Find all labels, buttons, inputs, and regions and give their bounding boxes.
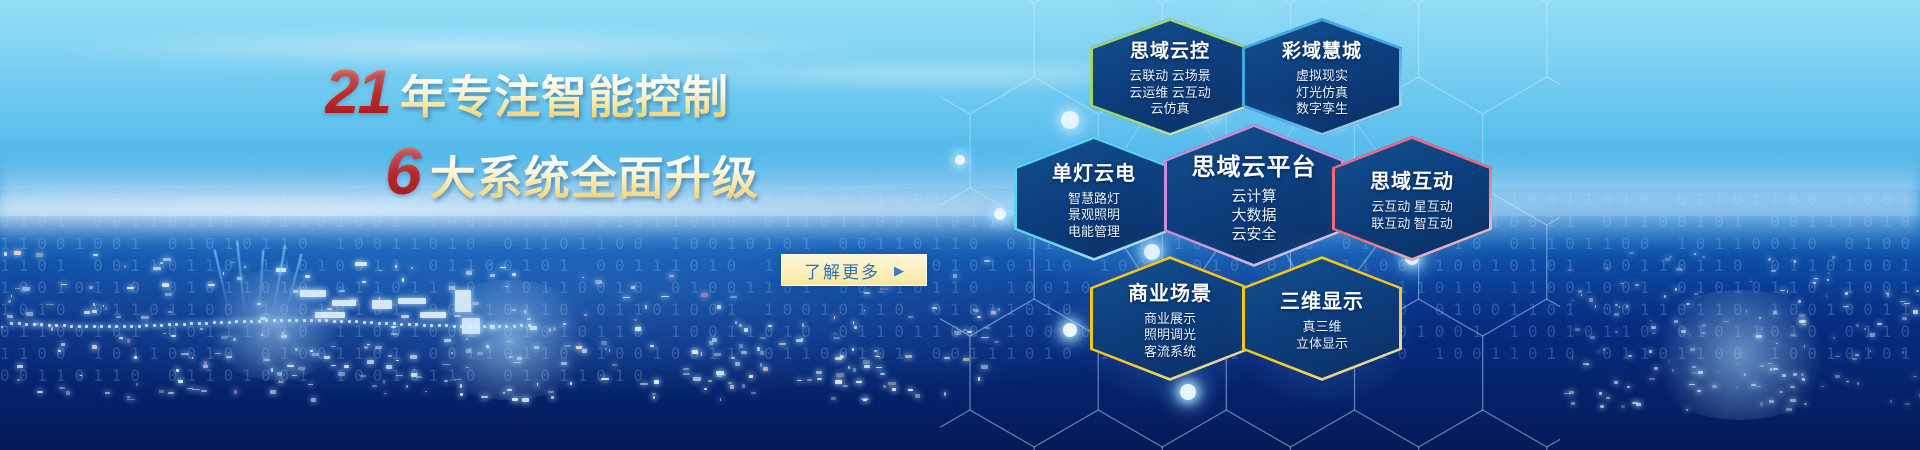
- headline-number-21: 21: [325, 62, 400, 124]
- hex-subtitle-list: 智慧路灯景观照明电能管理: [1068, 191, 1120, 241]
- hex-subtitle-list: 云互动 星互动联互动 智互动: [1371, 199, 1453, 232]
- hex-subtitle-line: 客流系统: [1144, 344, 1196, 361]
- hex-subtitle-line: 虚拟现实: [1296, 68, 1348, 85]
- headline-block: 21 年专注智能控制 6 大系统全面升级: [325, 62, 795, 204]
- headline-text-2: 大系统全面升级: [430, 155, 759, 201]
- learn-more-button[interactable]: 了解更多 ▶: [781, 254, 927, 286]
- hex-subtitle-line: 联互动 智互动: [1371, 216, 1453, 233]
- hex-subtitle-list: 云计算大数据云安全: [1231, 187, 1276, 245]
- headline-text-1: 年专注智能控制: [400, 74, 729, 120]
- hex-title: 单灯云电: [1052, 157, 1136, 186]
- headline-line-2: 6 大系统全面升级: [385, 138, 795, 204]
- hex-subtitle-line: 数字孪生: [1296, 101, 1348, 118]
- hex-subtitle-line: 云联动 云场景: [1129, 68, 1211, 85]
- hex-subtitle-line: 景观照明: [1068, 207, 1120, 224]
- hex-subtitle-line: 云运维 云互动: [1129, 85, 1211, 102]
- hex-subtitle-line: 灯光仿真: [1296, 85, 1348, 102]
- headline-line-1: 21 年专注智能控制: [325, 62, 795, 124]
- hex-subtitle-line: 云互动 星互动: [1371, 199, 1453, 216]
- headline-number-6: 6: [385, 138, 430, 204]
- arrow-right-icon: ▶: [894, 264, 904, 277]
- hex-title: 商业场景: [1128, 277, 1212, 306]
- hex-subtitle-line: 真三维: [1296, 319, 1348, 336]
- hex-network: 思域云控云联动 云场景云运维 云互动云仿真彩域慧城虚拟现实灯光仿真数字孪生单灯云…: [940, 0, 1560, 450]
- hex-title: 思域云控: [1130, 36, 1210, 63]
- hex-subtitle-line: 云仿真: [1129, 101, 1211, 118]
- hex-title: 彩域慧城: [1282, 36, 1362, 63]
- hex-subtitle-list: 云联动 云场景云运维 云互动云仿真: [1129, 68, 1211, 118]
- hex-title: 思域云平台: [1192, 147, 1317, 182]
- hex-title: 思域互动: [1370, 165, 1454, 194]
- hex-subtitle-list: 商业展示照明调光客流系统: [1144, 311, 1196, 361]
- hex-subtitle-line: 照明调光: [1144, 327, 1196, 344]
- hex-subtitle-line: 大数据: [1231, 206, 1276, 225]
- learn-more-label: 了解更多: [804, 258, 880, 283]
- hex-subtitle-line: 云安全: [1231, 225, 1276, 244]
- hex-subtitle-list: 真三维立体显示: [1296, 319, 1348, 352]
- hex-subtitle-line: 商业展示: [1144, 311, 1196, 328]
- hex-subtitle-list: 虚拟现实灯光仿真数字孪生: [1296, 68, 1348, 118]
- hex-subtitle-line: 立体显示: [1296, 336, 1348, 353]
- hex-title: 三维显示: [1280, 285, 1364, 314]
- hex-subtitle-line: 智慧路灯: [1068, 191, 1120, 208]
- hex-subtitle-line: 电能管理: [1068, 224, 1120, 241]
- hero-banner: 01001100 10110010 01101001 00110110 1001…: [0, 0, 1920, 450]
- hex-subtitle-line: 云计算: [1231, 187, 1276, 206]
